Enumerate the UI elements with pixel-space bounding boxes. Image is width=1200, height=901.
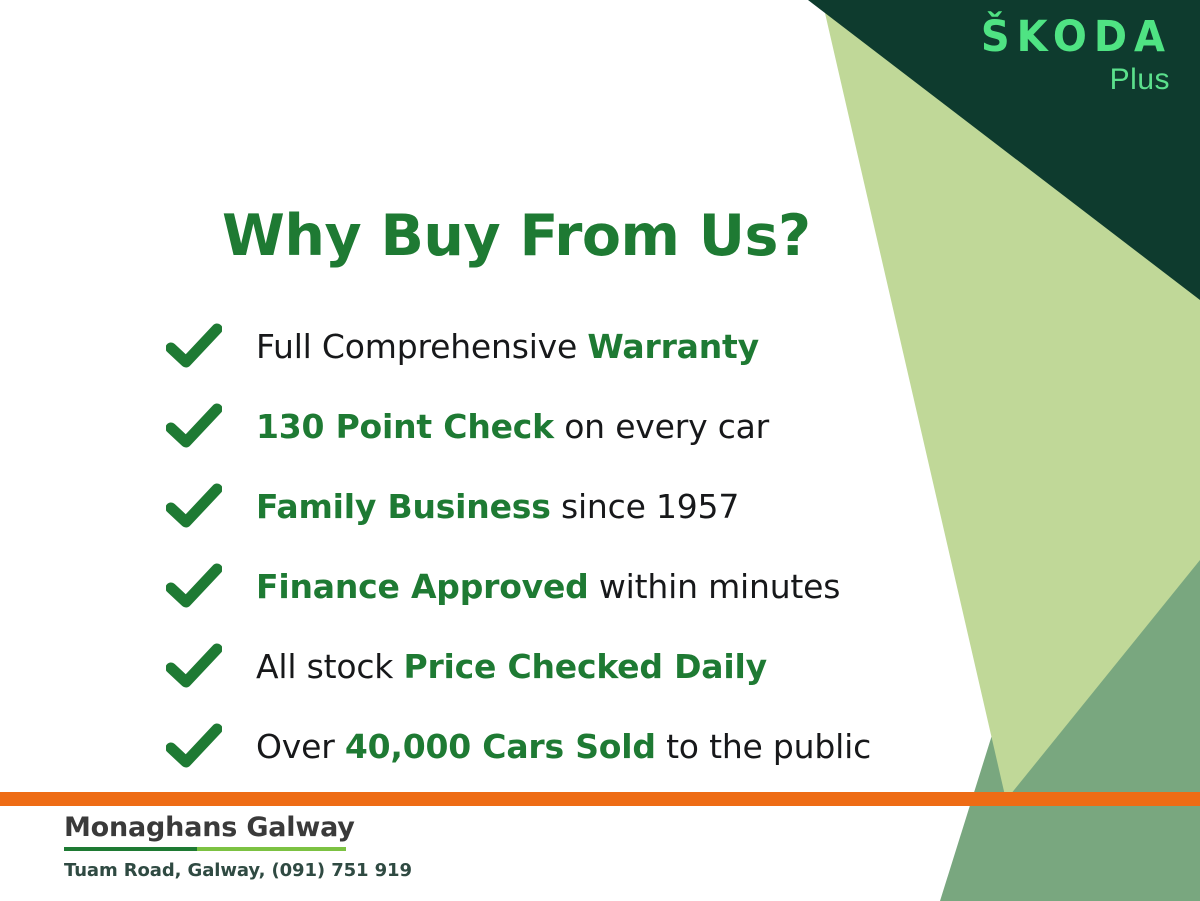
sage-light-triangle [822, 0, 1200, 800]
benefit-text: 130 Point Check on every car [256, 407, 769, 446]
benefit-text: All stock Price Checked Daily [256, 647, 767, 686]
dealer-footer: Monaghans Galway Tuam Road, Galway, (091… [64, 812, 412, 881]
dealer-underline [64, 847, 346, 851]
list-item: Finance Approved within minutes [166, 546, 871, 626]
benefit-text: Full Comprehensive Warranty [256, 327, 759, 366]
underline-segment-light [197, 847, 346, 851]
list-item: Over 40,000 Cars Sold to the public [166, 706, 871, 786]
dealer-name: Monaghans Galway [64, 812, 355, 844]
check-icon [166, 323, 222, 369]
sage-medium-triangle [940, 330, 1200, 901]
dealer-address: Tuam Road, Galway, (091) 751 919 [64, 860, 412, 881]
check-icon [166, 563, 222, 609]
list-item: Full Comprehensive Warranty [166, 306, 871, 386]
skoda-plus-label: Plus [981, 65, 1170, 95]
check-icon [166, 643, 222, 689]
underline-segment-dark [64, 847, 197, 851]
skoda-wordmark: ŠKODA [981, 16, 1172, 58]
check-icon [166, 483, 222, 529]
check-icon [166, 723, 222, 769]
list-item: All stock Price Checked Daily [166, 626, 871, 706]
list-item: Family Business since 1957 [166, 466, 871, 546]
page-title: Why Buy From Us? [222, 203, 811, 269]
check-icon [166, 403, 222, 449]
benefit-text: Family Business since 1957 [256, 487, 739, 526]
benefit-text: Finance Approved within minutes [256, 567, 840, 606]
promo-poster: ŠKODA Plus Why Buy From Us? Full Compreh… [0, 0, 1200, 901]
list-item: 130 Point Check on every car [166, 386, 871, 466]
benefit-text: Over 40,000 Cars Sold to the public [256, 727, 871, 766]
skoda-plus-logo: ŠKODA Plus [981, 16, 1172, 95]
orange-divider [0, 792, 1200, 806]
benefits-list: Full Comprehensive Warranty 130 Point Ch… [166, 306, 871, 786]
